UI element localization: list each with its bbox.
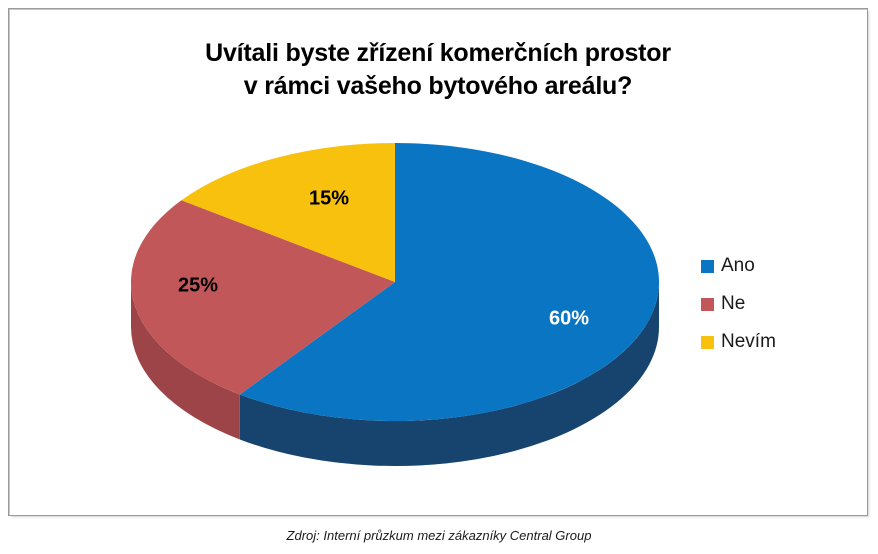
legend-item-ne[interactable]: Ne (701, 285, 851, 323)
legend-label-ano: Ano (721, 255, 755, 277)
legend-swatch-nevim (701, 336, 714, 349)
legend-label-ne: Ne (721, 293, 745, 315)
legend-swatch-ano (701, 260, 714, 273)
pie-chart-graphic (109, 139, 679, 489)
source-note: Zdroj: Interní průzkum mezi zákazníky Ce… (0, 528, 878, 543)
data-label-ne: 25% (178, 275, 218, 298)
chart-legend: Ano Ne Nevím (701, 247, 851, 361)
legend-item-ano[interactable]: Ano (701, 247, 851, 285)
data-label-ano: 60% (549, 308, 589, 331)
legend-swatch-ne (701, 298, 714, 311)
legend-item-nevim[interactable]: Nevím (701, 323, 851, 361)
data-label-nevim: 15% (309, 188, 349, 211)
chart-frame: Uvítali byste zřízení komerčních prostor… (8, 8, 868, 516)
legend-label-nevim: Nevím (721, 331, 776, 353)
pie-plot-area: 60% 25% 15% (9, 9, 689, 517)
